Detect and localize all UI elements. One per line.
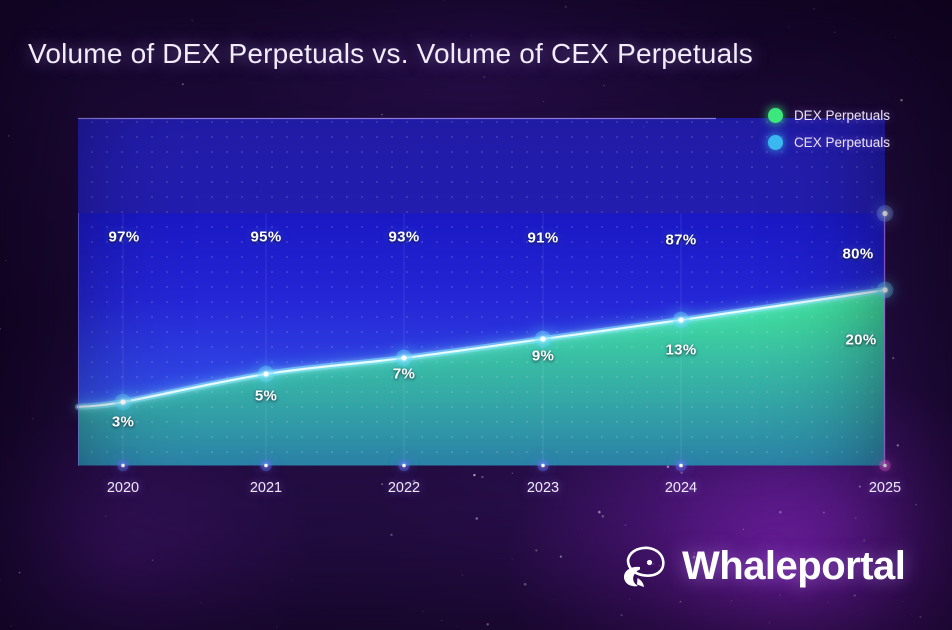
brand-logo[interactable]: Whaleportal (618, 540, 905, 592)
legend-label-dex: DEX Perpetuals (794, 108, 890, 123)
dex-value-label: 7% (393, 366, 415, 383)
page-title: Volume of DEX Perpetuals vs. Volume of C… (28, 38, 753, 70)
dex-value-label: 5% (255, 388, 277, 405)
dex-value-label: 3% (112, 414, 134, 431)
x-axis-tick-label: 2024 (665, 480, 697, 496)
x-axis-tick-label: 2021 (250, 480, 282, 496)
area-chart-graphic (0, 0, 952, 630)
chart-legend: DEX Perpetuals CEX Perpetuals (768, 108, 890, 162)
legend-item-cex[interactable]: CEX Perpetuals (768, 135, 890, 150)
x-axis-tick-label: 2022 (388, 480, 420, 496)
x-axis-tick-label: 2020 (107, 480, 139, 496)
brand-name: Whaleportal (682, 544, 905, 589)
x-axis-tick-label: 2025 (869, 480, 901, 496)
legend-swatch-dex-icon (768, 108, 783, 123)
chart-canvas: Volume of DEX Perpetuals vs. Volume of C… (0, 0, 952, 630)
cex-value-label: 95% (251, 229, 282, 246)
dex-value-label: 13% (666, 342, 697, 359)
cex-value-label: 87% (666, 232, 697, 249)
cex-value-label: 93% (389, 229, 420, 246)
legend-label-cex: CEX Perpetuals (794, 135, 890, 150)
cex-value-label: 97% (109, 229, 140, 246)
dex-value-label: 9% (532, 348, 554, 365)
cex-data-points (877, 205, 894, 222)
upper-band (78, 118, 885, 216)
legend-swatch-cex-icon (768, 135, 783, 150)
cex-value-label: 91% (528, 230, 559, 247)
dex-value-label: 20% (846, 332, 877, 349)
whale-icon (618, 540, 674, 592)
x-axis-tick-label: 2023 (527, 480, 559, 496)
legend-item-dex[interactable]: DEX Perpetuals (768, 108, 890, 123)
cex-value-label: 80% (843, 246, 874, 263)
